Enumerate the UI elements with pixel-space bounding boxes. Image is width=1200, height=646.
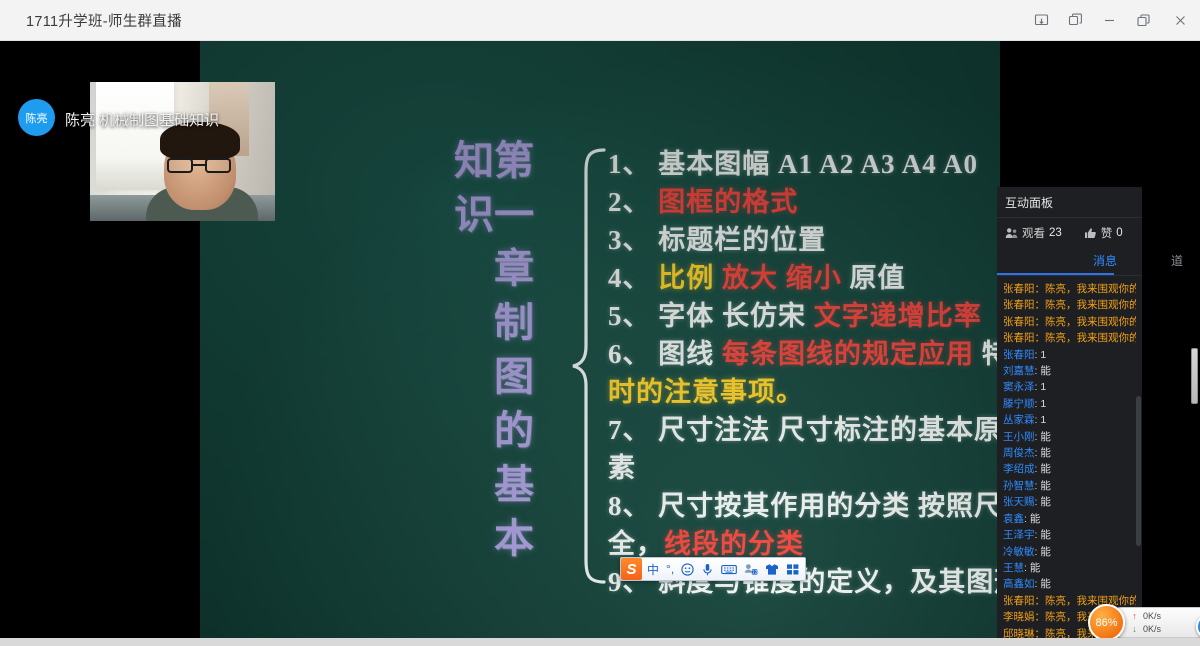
tab-messages[interactable]: 消息 (1069, 248, 1141, 275)
chat-message-author[interactable]: 刘嘉慧 (1003, 365, 1035, 377)
panel-tabs: 消息 道 (997, 248, 1142, 276)
chat-message-text: : 1 (1035, 349, 1047, 361)
panel-stats: 观看 23 赞 0 (997, 218, 1142, 248)
chat-message-author[interactable]: 张春阳 (1003, 299, 1035, 311)
chat-message-author[interactable]: 张天赐 (1003, 496, 1035, 508)
outline-segment: 2、 (608, 187, 658, 217)
outline-segment: 放大 缩小 (722, 263, 842, 293)
page-scrollbar-thumb[interactable] (1191, 348, 1198, 404)
chat-message-author[interactable]: 冷敏敏 (1003, 546, 1035, 558)
chat-message: 孙智慧: 能 (1003, 478, 1136, 494)
chat-message-list[interactable]: 张春阳：陈亮，我来围观你的直张春阳：陈亮，我来围观你的直张春阳：陈亮，我来围观你… (997, 276, 1142, 638)
viewers-label: 观看 (1022, 225, 1045, 241)
outline-segment: 图框的格式 (658, 187, 798, 217)
multi-window-icon[interactable] (1058, 0, 1092, 41)
outline-segment: 7、 尺寸注法 尺寸标注的基本原则 尺寸三要素 (608, 415, 1000, 483)
outline-row: 8、 尺寸按其作用的分类 按照尺寸是否齐全，线段的分类 (608, 487, 1000, 563)
outline-segment: 文字递增比率 (814, 301, 982, 331)
chat-message-author[interactable]: 周俊杰 (1003, 447, 1035, 459)
upload-arrow-icon: ↑ (1131, 610, 1138, 623)
chat-message-text: : 1 (1035, 414, 1047, 426)
sogou-logo-icon[interactable]: S (621, 558, 642, 580)
chat-message-author[interactable]: 邱晓琳 (1003, 628, 1035, 638)
outline-segment: 比例 (658, 263, 714, 293)
chat-message: 张春阳: 1 (1003, 347, 1136, 363)
chat-message-author[interactable]: 王泽宇 (1003, 529, 1035, 541)
outline-row: 1、 基本图幅 A1 A2 A3 A4 A0 (608, 145, 1000, 183)
chat-message-text: : 能 (1035, 578, 1051, 590)
chat-message-author[interactable]: 窦永泽 (1003, 381, 1035, 393)
microphone-icon[interactable] (699, 563, 716, 576)
chat-message: 李绍成: 能 (1003, 461, 1136, 477)
chat-message-text: : 能 (1035, 480, 1051, 492)
chat-message-author[interactable]: 孙智慧 (1003, 480, 1035, 492)
likes-stat: 赞 0 (1084, 225, 1123, 241)
likes-count: 0 (1116, 227, 1122, 239)
chat-message: 滕宁顺: 1 (1003, 396, 1136, 412)
chat-message: 张春阳：陈亮，我来围观你的直 (1003, 330, 1136, 346)
minimize-icon[interactable] (1092, 0, 1126, 41)
tab-secondary[interactable]: 道 (1141, 248, 1200, 275)
curly-brace-icon (570, 146, 610, 586)
chat-message: 冷敏敏: 能 (1003, 544, 1136, 560)
outline-segment: 4、 (608, 263, 658, 293)
viewers-count: 23 (1049, 227, 1062, 239)
window-title: 1711升学班-师生群直播 (26, 10, 182, 31)
chat-message-text: ：陈亮，我来围观你的直 (1035, 332, 1137, 344)
chat-message-author[interactable]: 王小刚 (1003, 431, 1035, 443)
chat-message: 袁鑫: 能 (1003, 511, 1136, 527)
chat-message-text: ：陈亮，我来围观你的直 (1035, 316, 1137, 328)
sogou-ime-toolbar[interactable]: S 中 °, 12 (620, 557, 806, 581)
upload-rate-row: ↑ 0K/s (1131, 610, 1200, 623)
panel-header: 互动面板 (997, 187, 1142, 218)
outline-row: 4、 比例 放大 缩小 原值 (608, 259, 1000, 297)
outline-segment: 5、 字体 长仿宋 (608, 301, 814, 331)
download-rate-row: ↓ 0K/s (1131, 623, 1200, 636)
chapter-title: 第一章制图的基本知识 (468, 139, 530, 579)
video-stage: 第一章制图的基本知识 1、 基本图幅 A1 A2 A3 A4 A02、 图框的格… (0, 41, 1200, 646)
close-icon[interactable] (1160, 0, 1200, 41)
chat-message-text: : 能 (1035, 496, 1051, 508)
speed-rates: ↑ 0K/s ↓ 0K/s (1131, 610, 1200, 636)
chat-message-text: : 能 (1035, 431, 1051, 443)
outline-segment: 1、 基本图幅 A1 A2 A3 A4 A0 (608, 149, 978, 179)
chat-message: 张春阳：陈亮，我来围观你的直 (1003, 297, 1136, 313)
chat-message-author[interactable]: 张春阳 (1003, 316, 1035, 328)
toolbox-icon[interactable]: 12 (742, 563, 760, 576)
chat-message: 张春阳：陈亮，我来围观你的直 (1003, 314, 1136, 330)
outline-row: 5、 字体 长仿宋 文字递增比率 (608, 297, 1000, 335)
smiley-icon[interactable] (679, 563, 696, 576)
chat-message-text: : 能 (1024, 562, 1040, 574)
chat-message-text: : 能 (1035, 529, 1051, 541)
thumbs-up-icon (1084, 227, 1097, 239)
chat-message-author[interactable]: 袁鑫 (1003, 513, 1024, 525)
bottom-strip (0, 638, 1200, 646)
chat-message-author[interactable]: 张春阳 (1003, 283, 1035, 295)
maximize-icon[interactable] (1126, 0, 1160, 41)
chat-message: 王泽宇: 能 (1003, 527, 1136, 543)
outline-segment: 3、 标题栏的位置 (608, 225, 826, 255)
skin-icon[interactable] (763, 563, 781, 576)
usage-percent-badge[interactable]: 86% (1088, 604, 1125, 641)
chat-message-text: ：陈亮，我来围观你的直 (1035, 283, 1137, 295)
chat-message-author[interactable]: 张春阳 (1003, 332, 1035, 344)
chat-message-text: : 能 (1035, 447, 1051, 459)
glasses-icon (167, 158, 231, 173)
chat-message: 刘嘉慧: 能 (1003, 363, 1136, 379)
apps-icon[interactable] (784, 563, 802, 576)
outline-row: 6、 图线 每条图线的规定应用 特别是画图线时的注意事项。 (608, 335, 1000, 411)
outline-segment: 每条图线的规定应用 (722, 339, 974, 369)
window-controls (1024, 0, 1200, 40)
chat-message: 张天赐: 能 (1003, 494, 1136, 510)
tab-active-underline (997, 273, 1114, 275)
outline-row: 2、 图框的格式 (608, 183, 1000, 221)
lesson-outline: 1、 基本图幅 A1 A2 A3 A4 A02、 图框的格式3、 标题栏的位置4… (608, 145, 1000, 601)
chat-message: 窦永泽: 1 (1003, 379, 1136, 395)
download-rate: 0K/s (1143, 623, 1161, 636)
svg-text:12: 12 (752, 569, 758, 575)
blackboard-video[interactable]: 第一章制图的基本知识 1、 基本图幅 A1 A2 A3 A4 A02、 图框的格… (200, 41, 1000, 646)
chat-message-text: ：陈亮，我来围观你的直 (1035, 595, 1137, 607)
outline-segment: 6、 图线 (608, 339, 722, 369)
chat-message-author[interactable]: 滕宁顺 (1003, 398, 1035, 410)
outline-row: 3、 标题栏的位置 (608, 221, 1000, 259)
chat-message: 周俊杰: 能 (1003, 445, 1136, 461)
ime-mode-chinese[interactable]: 中 (645, 561, 661, 578)
interaction-panel: 互动面板 观看 23 赞 0 (997, 187, 1142, 646)
chat-message: 张春阳：陈亮，我来围观你的直 (1003, 281, 1136, 297)
upload-rate: 0K/s (1143, 610, 1161, 623)
pin-window-icon[interactable] (1024, 0, 1058, 41)
stream-title: 陈亮 机械制图基础知识 (65, 109, 219, 130)
download-arrow-icon: ↓ (1131, 623, 1138, 636)
chat-message-text: : 能 (1035, 463, 1051, 475)
chat-message-text: : 能 (1035, 365, 1051, 377)
viewers-stat: 观看 23 (1005, 225, 1062, 241)
chat-message-author[interactable]: 张春阳 (1003, 595, 1035, 607)
outline-segment: 原值 (842, 263, 906, 293)
chat-message-author[interactable]: 丛家霖 (1003, 414, 1035, 426)
chat-scrollbar[interactable] (1136, 396, 1141, 546)
chat-message: 丛家霖: 1 (1003, 412, 1136, 428)
panel-title: 互动面板 (1005, 194, 1053, 211)
avatar: 陈亮 (18, 99, 55, 136)
chat-message-author[interactable]: 李绍成 (1003, 463, 1035, 475)
tab-placeholder (997, 248, 1069, 275)
chat-message: 王小刚: 能 (1003, 429, 1136, 445)
likes-label: 赞 (1101, 225, 1113, 241)
chat-message: 王慧: 能 (1003, 560, 1136, 576)
chat-message-text: : 1 (1035, 381, 1047, 393)
chat-message-text: : 能 (1024, 513, 1040, 525)
chat-message-author[interactable]: 王慧 (1003, 562, 1024, 574)
chat-message-author[interactable]: 高鑫如 (1003, 578, 1035, 590)
chat-message-author[interactable]: 张春阳 (1003, 349, 1035, 361)
keyboard-icon[interactable] (719, 563, 739, 576)
ime-punctuation-icon[interactable]: °, (664, 562, 676, 576)
chat-message: 高鑫如: 能 (1003, 576, 1136, 592)
outline-segment: 线段的分类 (664, 529, 804, 559)
chat-message-text: ：陈亮，我来围观你的直 (1035, 299, 1137, 311)
chat-message-author[interactable]: 李晓娟 (1003, 611, 1035, 623)
outline-row: 7、 尺寸注法 尺寸标注的基本原则 尺寸三要素 (608, 411, 1000, 487)
window-titlebar: 1711升学班-师生群直播 (0, 0, 1200, 41)
viewers-icon (1005, 227, 1018, 239)
outline-segment (714, 263, 722, 293)
chat-message-text: : 1 (1035, 398, 1047, 410)
presenter-webcam[interactable] (90, 82, 275, 221)
chat-message-text: : 能 (1035, 546, 1051, 558)
live-streaming-window: 1711升学班-师生群直播 第一章制图的基本知识 (0, 0, 1200, 646)
